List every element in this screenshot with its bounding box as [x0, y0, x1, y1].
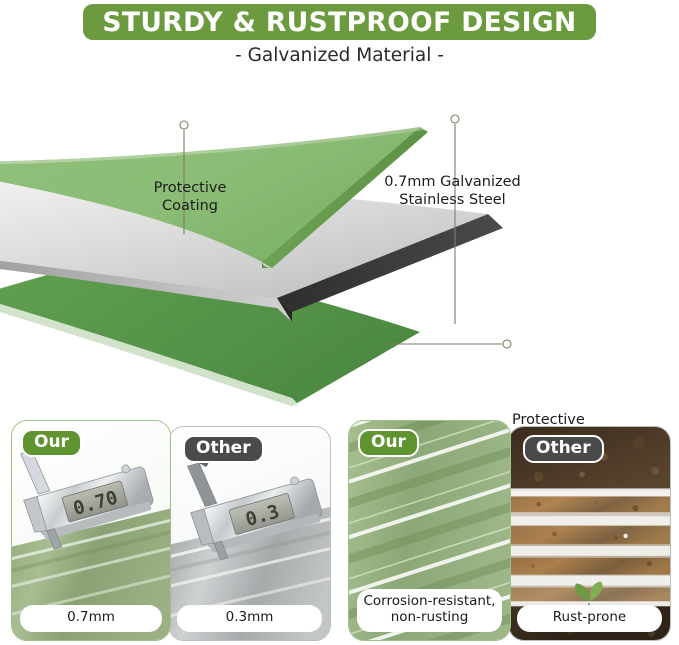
badge-other-1: Other: [183, 435, 264, 463]
circle-marker-bottom-right: [503, 340, 511, 348]
comparison-panel-other-thickness: 0.3 Other 0.3mm: [168, 426, 331, 641]
caption-corrosion-other: Rust-prone: [517, 605, 662, 632]
diagram-illustration: [0, 86, 679, 406]
caption-thickness-our: 0.7mm: [20, 605, 162, 632]
comparison-panel-our-corrosion: Our Corrosion-resistant, non-rusting: [348, 420, 511, 641]
annotation-protective-coating-top: Protective Coating: [135, 180, 245, 215]
header: STURDY & RUSTPROOF DESIGN - Galvanized M…: [0, 0, 679, 88]
comparison-panel-our-thickness: 0.70 Our 0.7mm: [11, 420, 171, 641]
annotation-galvanized-steel: 0.7mm Galvanized Stainless Steel: [370, 174, 535, 209]
caption-thickness-other: 0.3mm: [177, 605, 322, 632]
badge-our-1: Our: [21, 429, 82, 457]
page-subtitle: - Galvanized Material -: [0, 45, 679, 66]
page-title: STURDY & RUSTPROOF DESIGN: [102, 7, 576, 38]
caption-corrosion-our: Corrosion-resistant, non-rusting: [357, 589, 502, 632]
title-banner: STURDY & RUSTPROOF DESIGN: [83, 4, 596, 40]
circle-marker-top-left: [180, 121, 188, 129]
circle-marker-top-right: [451, 115, 459, 123]
badge-other-2: Other: [523, 435, 604, 463]
badge-our-2: Our: [358, 429, 419, 457]
exploded-layer-diagram: Protective Coating 0.7mm Galvanized Stai…: [0, 86, 679, 406]
comparison-panel-other-corrosion: Other Rust-prone: [508, 426, 671, 641]
comparison-panels: 0.70 Our 0.7mm: [0, 412, 679, 645]
